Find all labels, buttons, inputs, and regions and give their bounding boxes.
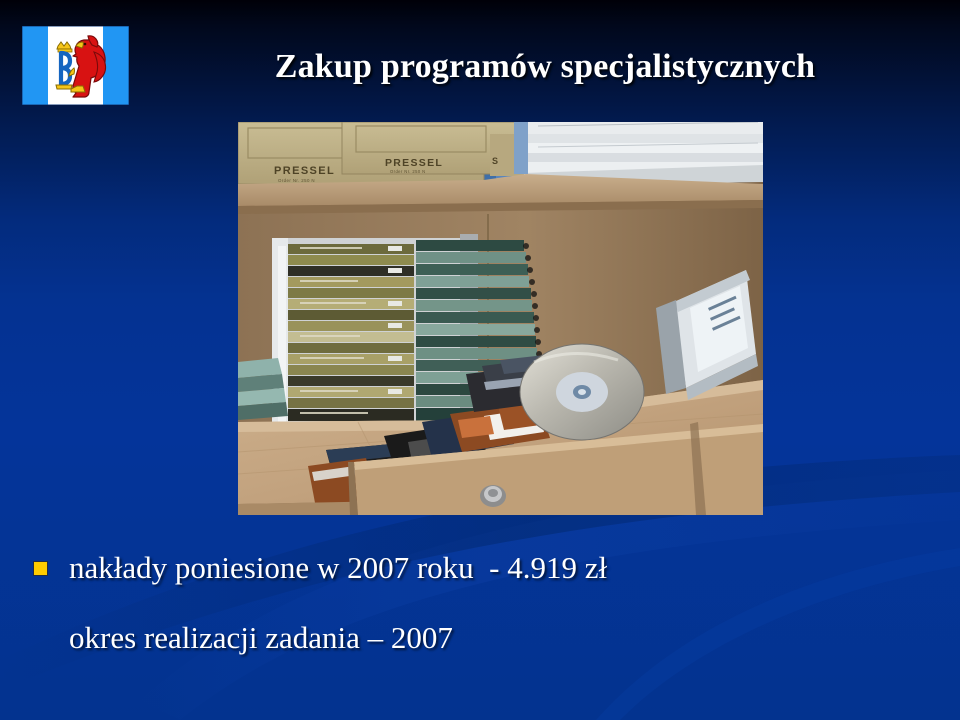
- list-item: nakłady poniesione w 2007 roku - 4.919 z…: [34, 548, 934, 588]
- svg-text:S: S: [492, 156, 498, 166]
- photo-drawer-knob: [480, 485, 506, 507]
- svg-text:Order Nr. 250 N: Order Nr. 250 N: [278, 178, 315, 183]
- photo-box-label-1: PRESSEL: [274, 165, 335, 177]
- list-item: okres realizacji zadania – 2007: [34, 618, 934, 658]
- page-title: Zakup programów specjalistycznych: [150, 48, 940, 86]
- svg-text:Order Nr. 250 N: Order Nr. 250 N: [390, 169, 426, 174]
- bullet-list: nakłady poniesione w 2007 roku - 4.919 z…: [34, 548, 934, 687]
- photo-cd-disc: [520, 344, 644, 440]
- slide-photo: PRESSEL Order Nr. 250 N PRESSEL Order Nr…: [238, 122, 763, 515]
- slide: Zakup programów specjalistycznych: [0, 0, 960, 720]
- bullet-text: nakłady poniesione w 2007 roku - 4.919 z…: [69, 548, 607, 588]
- photo-box-label-2: PRESSEL: [385, 157, 443, 169]
- bullet-marker-icon: [34, 562, 47, 575]
- bullet-text: okres realizacji zadania – 2007: [69, 618, 453, 658]
- coat-of-arms-logo: [22, 26, 129, 105]
